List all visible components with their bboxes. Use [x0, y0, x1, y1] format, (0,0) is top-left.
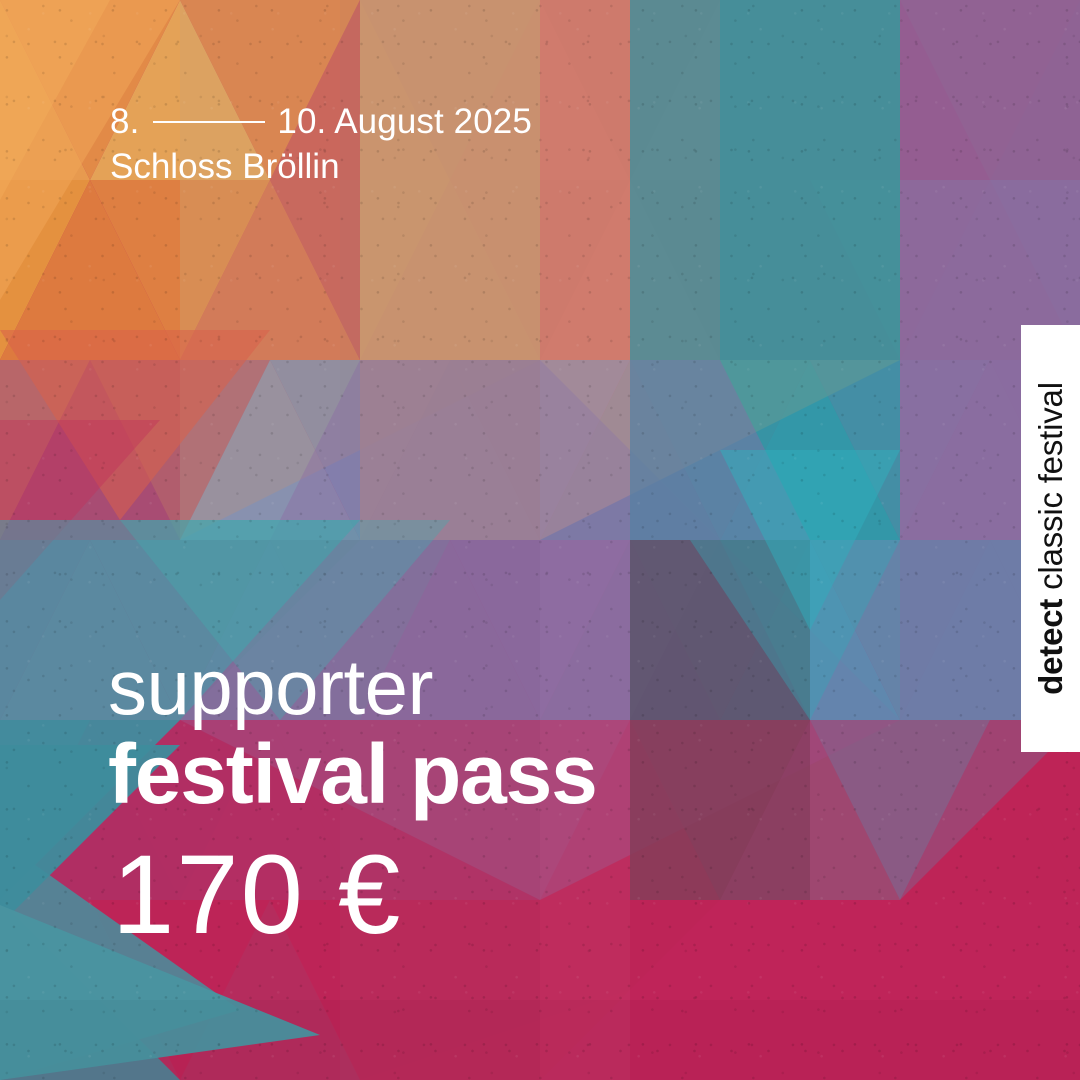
- ticket-headline: supporter festival pass: [108, 648, 597, 822]
- date-rule-icon: [153, 121, 265, 123]
- festival-logo-badge: detect classic festival: [1021, 325, 1080, 752]
- poster-content: 8. 10. August 2025 Schloss Bröllin suppo…: [0, 0, 1080, 1080]
- logo-descriptor: classic festival: [1032, 382, 1069, 599]
- logo-brand: detect: [1032, 599, 1069, 695]
- date-start: 8.: [110, 100, 139, 144]
- event-date-block: 8. 10. August 2025 Schloss Bröllin: [110, 100, 532, 190]
- date-end: 10. August 2025: [277, 100, 532, 144]
- ticket-price: 170 €: [112, 836, 402, 954]
- festival-logo-text: detect classic festival: [1034, 382, 1067, 695]
- ticket-tier: supporter: [108, 648, 597, 726]
- ticket-product: festival pass: [108, 726, 597, 822]
- event-venue: Schloss Bröllin: [110, 144, 532, 190]
- event-date-line: 8. 10. August 2025: [110, 100, 532, 144]
- festival-ticket-poster: 8. 10. August 2025 Schloss Bröllin suppo…: [0, 0, 1080, 1080]
